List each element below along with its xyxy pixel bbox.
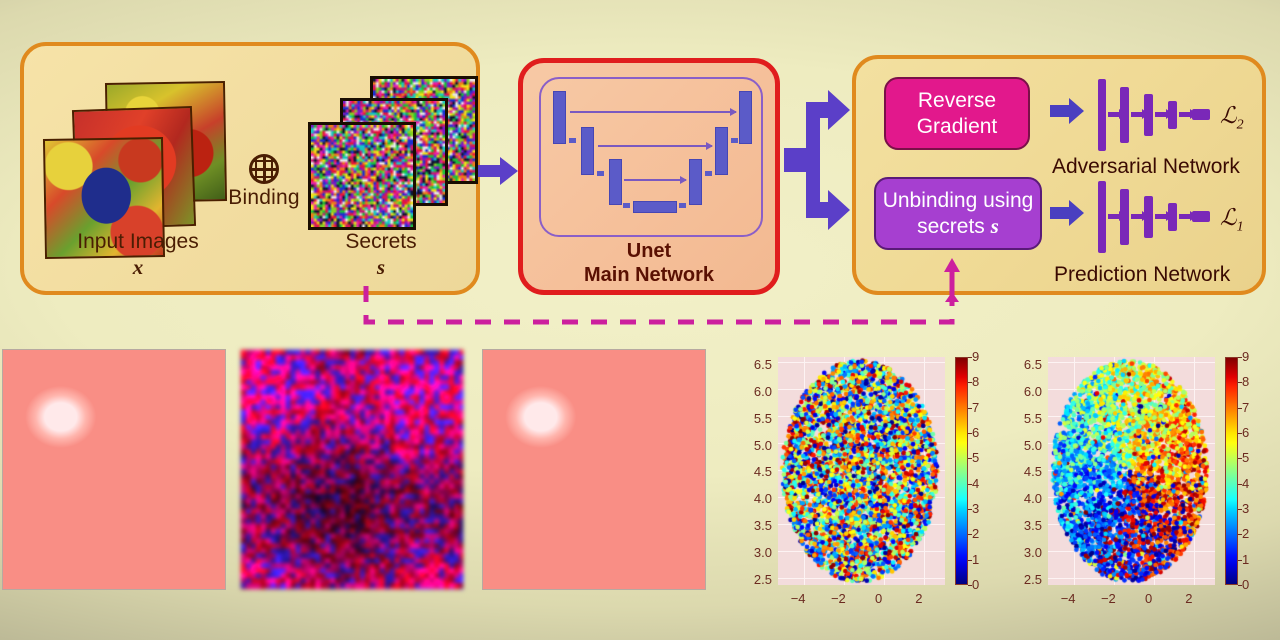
colorbar-tick-label: 2 [972,526,979,541]
y-tick-label: 4.0 [1000,491,1042,506]
adv-arrow-3 [1155,112,1167,117]
x-tick-label: −2 [1091,591,1125,606]
y-tick-label: 4.5 [730,464,772,479]
colorbar-tick-mark [1238,408,1242,409]
y-tick-label: 5.0 [730,438,772,453]
unet-bottleneck-bar [633,201,677,213]
y-tick-label: 3.5 [1000,518,1042,533]
unet-skip-2 [598,145,712,147]
secret-residual-image [240,349,464,590]
pipeline-diagram: Binding Input Images x Secrets s [0,0,1280,345]
unet-connector-5 [705,171,712,176]
pred-arrow-3 [1155,214,1167,219]
input-images-caption: Input Images x [32,230,244,280]
loss-prediction-label: ℒ1 [1220,205,1244,236]
scatter-left-colorbar [955,357,968,585]
unet-encoder-bar-2 [581,127,594,175]
results-row: 2.53.03.54.04.55.05.56.06.5−4−2020123456… [0,345,1280,640]
x-tick-label: 0 [862,591,896,606]
pred-arrow-1 [1108,214,1120,219]
pred-layer-1 [1098,181,1106,253]
colorbar-tick-mark [1238,433,1242,434]
colorbar-tick-label: 6 [1242,425,1249,440]
colorbar-tick-label: 1 [1242,552,1249,567]
colorbar-tick-label: 9 [1242,349,1249,364]
y-tick-label: 2.5 [1000,572,1042,587]
colorbar-tick-label: 7 [972,400,979,415]
outputs-panel: Reverse Gradient Unbinding using secrets… [852,55,1266,295]
binding-label: Binding [228,186,299,209]
y-tick-label: 3.0 [1000,545,1042,560]
scatter-left-points [778,357,945,585]
unet-decoder-bar-3 [689,159,702,205]
secret-image-1 [308,122,416,230]
scatter-plot-left: 2.53.03.54.04.55.05.56.06.5−4−2020123456… [726,345,996,640]
y-tick-label: 3.0 [730,545,772,560]
loss-adversarial-label: ℒ2 [1220,103,1244,134]
colorbar-tick-label: 3 [1242,501,1249,516]
unet-connector-6 [731,138,738,143]
x-tick-label: −2 [821,591,855,606]
colorbar-tick-mark [968,408,972,409]
colorbar-tick-label: 4 [972,476,979,491]
secrets-symbol: s [286,255,476,280]
unet-connector-3 [623,203,630,208]
colorbar-tick-label: 8 [972,374,979,389]
unet-panel: Unet Main Network [518,58,780,295]
scatter-right-colorbar [1225,357,1238,585]
unet-connector-2 [597,171,604,176]
colorbar-tick-label: 0 [972,577,979,592]
y-tick-label: 6.0 [730,384,772,399]
stego-image [482,349,706,590]
circled-grid-icon [249,154,279,184]
y-tick-label: 4.0 [730,491,772,506]
colorbar-tick-label: 6 [972,425,979,440]
colorbar-tick-mark [1238,560,1242,561]
colorbar-tick-label: 5 [972,450,979,465]
colorbar-tick-mark [968,357,972,358]
unet-skip-1 [570,111,736,113]
unet-diagram [539,77,763,237]
x-tick-label: −4 [1051,591,1085,606]
scatter-plot-right: 2.53.03.54.04.55.05.56.06.5−4−2020123456… [996,345,1266,640]
y-tick-label: 3.5 [730,518,772,533]
secrets-stack [302,58,492,248]
colorbar-tick-label: 4 [1242,476,1249,491]
adversarial-network-stack [1098,75,1228,155]
y-tick-label: 2.5 [730,572,772,587]
arrow-to-adversarial-network [1050,97,1086,125]
y-tick-label: 6.0 [1000,384,1042,399]
figure-root: Binding Input Images x Secrets s [0,0,1280,640]
unet-skip-3 [624,179,686,181]
colorbar-tick-mark [968,560,972,561]
unet-connector-4 [679,203,686,208]
unbinding-secret-symbol: s [991,214,999,238]
scatter-right-points [1048,357,1215,585]
x-tick-label: 2 [902,591,936,606]
y-tick-label: 5.0 [1000,438,1042,453]
y-tick-label: 6.5 [730,357,772,372]
colorbar-tick-mark [968,509,972,510]
colorbar-tick-mark [1238,509,1242,510]
colorbar-tick-label: 5 [1242,450,1249,465]
pred-arrow-4 [1179,214,1191,219]
colorbar-tick-mark [1238,357,1242,358]
colorbar-tick-label: 2 [1242,526,1249,541]
prediction-network-label: Prediction Network [1054,263,1230,287]
y-tick-label: 5.5 [730,411,772,426]
cover-image [2,349,226,590]
colorbar-tick-label: 1 [972,552,979,567]
colorbar-tick-mark [968,484,972,485]
colorbar-tick-mark [968,433,972,434]
pred-arrow-2 [1131,214,1143,219]
unet-encoder-bar-1 [553,91,566,144]
adv-arrow-2 [1131,112,1143,117]
unet-encoder-bar-3 [609,159,622,205]
arrow-fork-unet-to-outputs [784,80,856,240]
unet-title: Unet Main Network [523,239,775,287]
x-tick-label: 2 [1172,591,1206,606]
colorbar-tick-mark [1238,382,1242,383]
adv-arrow-4 [1179,112,1191,117]
x-tick-label: −4 [781,591,815,606]
arrow-inputs-to-unet [478,155,520,187]
colorbar-tick-label: 3 [972,501,979,516]
x-tick-label: 0 [1132,591,1166,606]
colorbar-tick-mark [1238,484,1242,485]
y-tick-label: 6.5 [1000,357,1042,372]
input-symbol: x [32,255,244,280]
unet-decoder-bar-1 [739,91,752,144]
colorbar-tick-mark [1238,534,1242,535]
adv-layer-1 [1098,79,1106,151]
y-tick-label: 4.5 [1000,464,1042,479]
binding-operator: Binding [224,154,304,210]
y-tick-label: 5.5 [1000,411,1042,426]
colorbar-tick-label: 7 [1242,400,1249,415]
colorbar-tick-mark [968,585,972,586]
colorbar-tick-label: 0 [1242,577,1249,592]
inputs-panel: Binding Input Images x Secrets s [20,42,480,295]
colorbar-tick-mark [1238,458,1242,459]
colorbar-tick-label: 8 [1242,374,1249,389]
unet-decoder-bar-2 [715,127,728,175]
colorbar-tick-mark [968,534,972,535]
adv-arrow-1 [1108,112,1120,117]
unbinding-box: Unbinding using secrets s [874,177,1042,250]
colorbar-tick-label: 9 [972,349,979,364]
unet-connector-1 [569,138,576,143]
secrets-caption: Secrets s [286,230,476,280]
colorbar-tick-mark [968,458,972,459]
prediction-network-stack [1098,177,1228,257]
reverse-gradient-box: Reverse Gradient [884,77,1030,150]
adversarial-network-label: Adversarial Network [1052,155,1240,179]
colorbar-tick-mark [968,382,972,383]
arrow-to-prediction-network [1050,199,1086,227]
colorbar-tick-mark [1238,585,1242,586]
